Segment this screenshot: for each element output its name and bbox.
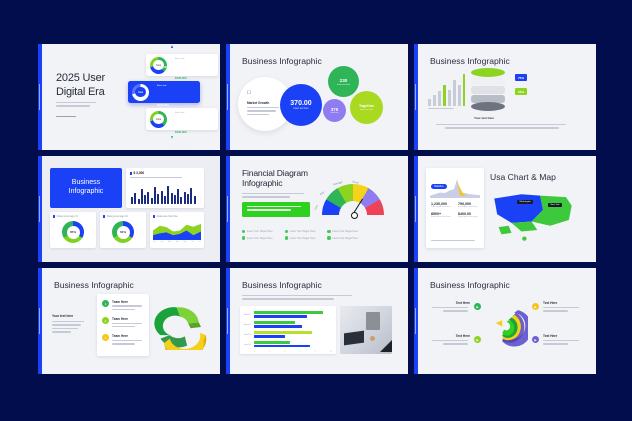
- body-text-placeholder: [56, 102, 96, 109]
- legend-item: Insert Your Target Here: [285, 236, 316, 239]
- slide-thumbnail-3[interactable]: Business Infographic Your text here: [414, 44, 596, 150]
- bar-group: Item 02: [244, 321, 332, 329]
- slide-thumbnail-4[interactable]: Business Infographic $ 3,300: [38, 156, 220, 262]
- chart-icon: [130, 172, 132, 175]
- list-badge: 1: [102, 300, 109, 307]
- photo: [340, 306, 392, 354]
- label-block[interactable]: Text Here: [543, 301, 581, 312]
- donut-icon: Data: [150, 111, 167, 128]
- page-title: Business Infographic: [430, 56, 510, 66]
- donut-chart: 60%: [112, 221, 134, 243]
- gauge-chart: [322, 184, 384, 215]
- link-placeholder: [56, 116, 76, 119]
- marker-icon: ▶: [474, 336, 481, 343]
- slide-thumbnail-1[interactable]: 2025 User Digital Era Data $250,000Enter…: [38, 44, 220, 150]
- donut-chart: 85%: [62, 221, 84, 243]
- donut-widget[interactable]: Data percentage 01 85%: [50, 212, 96, 248]
- list-item[interactable]: 3 Team Here: [102, 334, 144, 346]
- marker-icon: ▶: [532, 303, 539, 310]
- legend-item: Insert Your Target Here: [242, 230, 273, 233]
- widget-icon: [103, 215, 105, 217]
- value-circle[interactable]: 370 Insert text: [323, 99, 346, 122]
- arrow-up-icon: [153, 72, 155, 75]
- marker-icon: ▶: [532, 336, 539, 343]
- arrow-up-icon: [171, 99, 173, 102]
- page-title: Financial Diagram Infographic: [242, 168, 308, 189]
- widget-icon: [53, 215, 55, 217]
- list-item[interactable]: 2 Team Here: [102, 317, 144, 329]
- widget-icon: [153, 215, 155, 217]
- slide-thumbnail-7[interactable]: Business Infographic Your text here 1 Te…: [38, 268, 220, 374]
- value-circle[interactable]: 370.00 Insert text here: [280, 84, 322, 126]
- page-title: Usa Chart & Map: [490, 172, 556, 182]
- apple-icon: : [247, 90, 251, 96]
- people-row: 75%: [515, 74, 550, 81]
- list-item[interactable]: 1 Team Here: [102, 300, 144, 312]
- list-badge: 2: [102, 317, 109, 324]
- donut-widget[interactable]: Data percentage 02 60%: [100, 212, 146, 248]
- legend-item: Insert Your Target Here: [285, 230, 316, 233]
- slide-thumbnail-8[interactable]: Business Infographic Item 01 Item 02: [226, 268, 408, 374]
- usa-map[interactable]: [490, 188, 576, 242]
- label-block[interactable]: Text Here: [432, 301, 470, 312]
- bar-chart-panel[interactable]: Item 01 Item 02 Item: [240, 306, 336, 354]
- page-title: Business Infographic: [430, 280, 510, 290]
- area-chart: [153, 221, 201, 240]
- title-panel: Business Infographic: [50, 168, 122, 208]
- slide-thumbnail-9[interactable]: Business Infographic Text Here ▶ Text He…: [414, 268, 596, 374]
- slide-thumbnail-5[interactable]: Financial Diagram Infographic Low Fair A…: [226, 156, 408, 262]
- value-circle[interactable]: Together Insert text here: [350, 91, 383, 124]
- label-block[interactable]: Text Here: [543, 334, 581, 345]
- stats-card[interactable]: Statistics 1,230,000 Insert your text he…: [426, 168, 484, 248]
- arrow-up-icon: [171, 45, 173, 48]
- kpi: $400.00 Insert your text here: [458, 212, 479, 219]
- stat-row: $120,000Enter text: [171, 120, 214, 150]
- gauge-hub: [351, 212, 358, 219]
- donut-icon: Data: [132, 84, 149, 101]
- marker-icon: ▶: [474, 303, 481, 310]
- slide-grid: 2025 User Digital Era Data $250,000Enter…: [38, 44, 596, 374]
- kpi: 8500+ Insert your text here: [431, 212, 452, 219]
- people-row: 25%: [515, 88, 550, 95]
- page-title: Business Infographic: [242, 280, 322, 290]
- 3d-donut-chart: [150, 296, 208, 350]
- list-badge: 3: [102, 334, 109, 341]
- page-title: Business Infographic: [54, 280, 134, 290]
- feature-list-card[interactable]: 1 Team Here 2 Team Here 3 Team Here: [97, 294, 149, 356]
- label-block[interactable]: Text Here: [432, 334, 470, 345]
- kpi: 790,000 Insert your text here: [458, 202, 479, 209]
- area-chart-panel[interactable]: Data area chart title JanFebMarAprMayJun…: [150, 212, 204, 248]
- bar-group: Item 04: [244, 341, 332, 349]
- bar-chart-panel[interactable]: $ 3,300: [126, 168, 204, 208]
- cylinder-stack-icon: [471, 68, 505, 110]
- arrow-down-icon: [171, 136, 173, 139]
- side-text: Your text here: [52, 314, 84, 332]
- kpi: 1,230,000 Insert your text here: [431, 202, 452, 209]
- value-circle[interactable]: 230 Insert text here: [328, 66, 359, 97]
- legend-item: Insert Your Target Here: [242, 236, 273, 239]
- slide-thumbnail-2[interactable]: Business Infographic  Market Growth 370…: [226, 44, 408, 150]
- stat-row: $250,000Enter text: [171, 82, 214, 118]
- stat-card[interactable]: Data $250,000Enter text $120,000Enter te…: [146, 108, 218, 130]
- concentric-arcs-chart: [482, 290, 528, 356]
- bar-chart: [428, 74, 465, 106]
- legend-item: Insert Your Target Here: [327, 230, 358, 233]
- legend-item: Insert Your Target Here: [327, 236, 358, 239]
- slide-thumbnail-6[interactable]: Usa Chart & Map Statistics 1,230,000 Ins…: [414, 156, 596, 262]
- spike-chart: [430, 176, 480, 198]
- bar-group: Item 01: [244, 311, 332, 319]
- legend: Insert Your Target Here Insert Your Targ…: [242, 230, 358, 243]
- page-title: Business Infographic: [242, 56, 322, 66]
- bar-group: Item 03: [244, 331, 332, 339]
- cta-button[interactable]: [242, 202, 310, 217]
- page-title: 2025 User Digital Era: [56, 72, 105, 100]
